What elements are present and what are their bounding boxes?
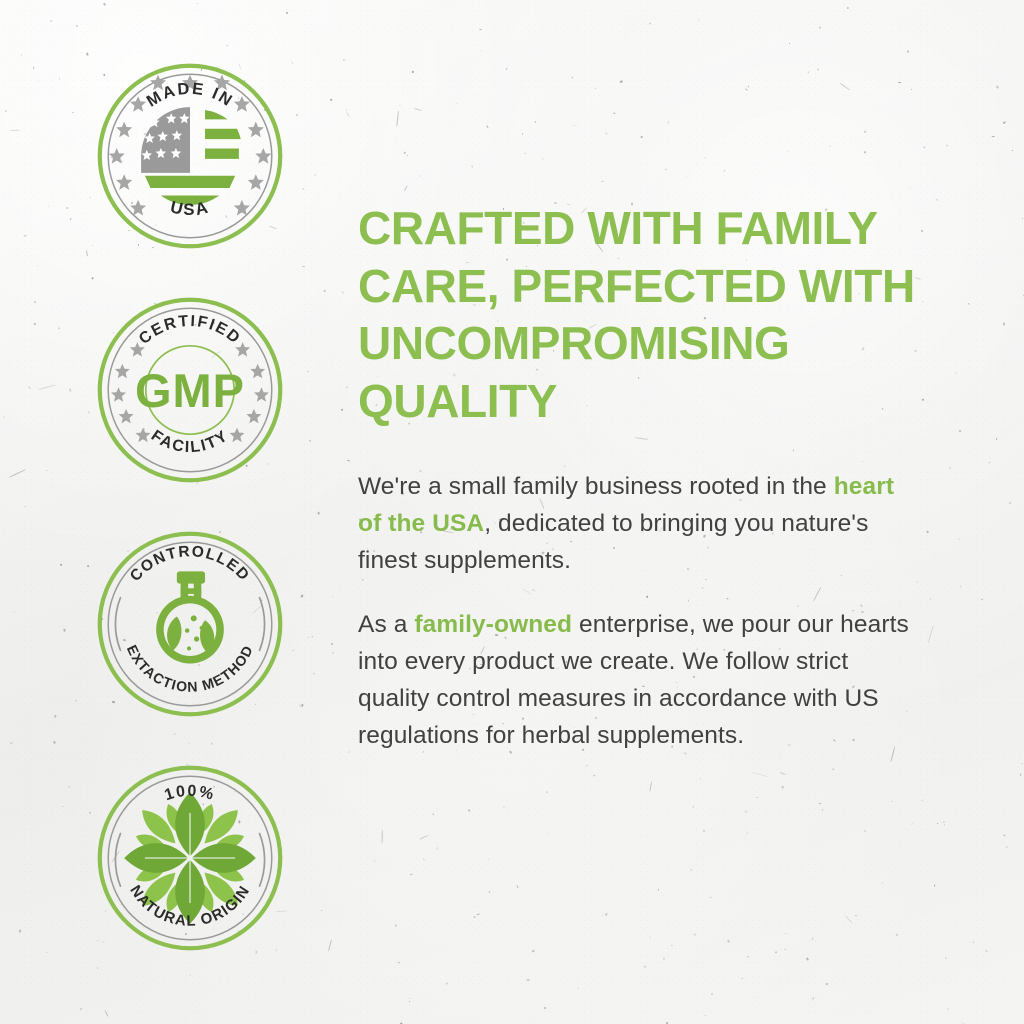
paragraph-1-part1: We're a small family business rooted in … [358, 473, 834, 500]
flask-leaf-icon [156, 571, 224, 663]
paragraph-2-highlight: family-owned [414, 611, 572, 638]
badge-gmp-certified-facility: GMP CERTIFIED FACILITY [96, 296, 284, 484]
content-area: MADE IN USA [0, 0, 1024, 1024]
badge-bottom-text: USA [168, 197, 211, 219]
badge-center-text: GMP [135, 364, 245, 417]
text-column: CRAFTED WITH FAMILY CARE, PERFECTED WITH… [358, 200, 918, 755]
certification-badge-column: MADE IN USA [96, 62, 292, 998]
paragraph-2: As a family-owned enterprise, we pour ou… [358, 606, 918, 755]
promo-panel: MADE IN USA [0, 0, 1024, 1024]
usa-flag-icon [141, 107, 241, 205]
badge-made-in-usa: MADE IN USA [96, 62, 284, 250]
paragraph-2-part1: As a [358, 611, 414, 638]
badge-bottom-text: FACILITY [148, 427, 232, 456]
badge-natural-origin: 100% NATURAL ORIGIN [96, 764, 284, 952]
paragraph-1: We're a small family business rooted in … [358, 468, 918, 580]
page-title: CRAFTED WITH FAMILY CARE, PERFECTED WITH… [358, 200, 918, 430]
decorative-arcs [115, 598, 264, 651]
badge-controlled-extaction-method: CONTROLLED EXTACTION METHOD [96, 530, 284, 718]
